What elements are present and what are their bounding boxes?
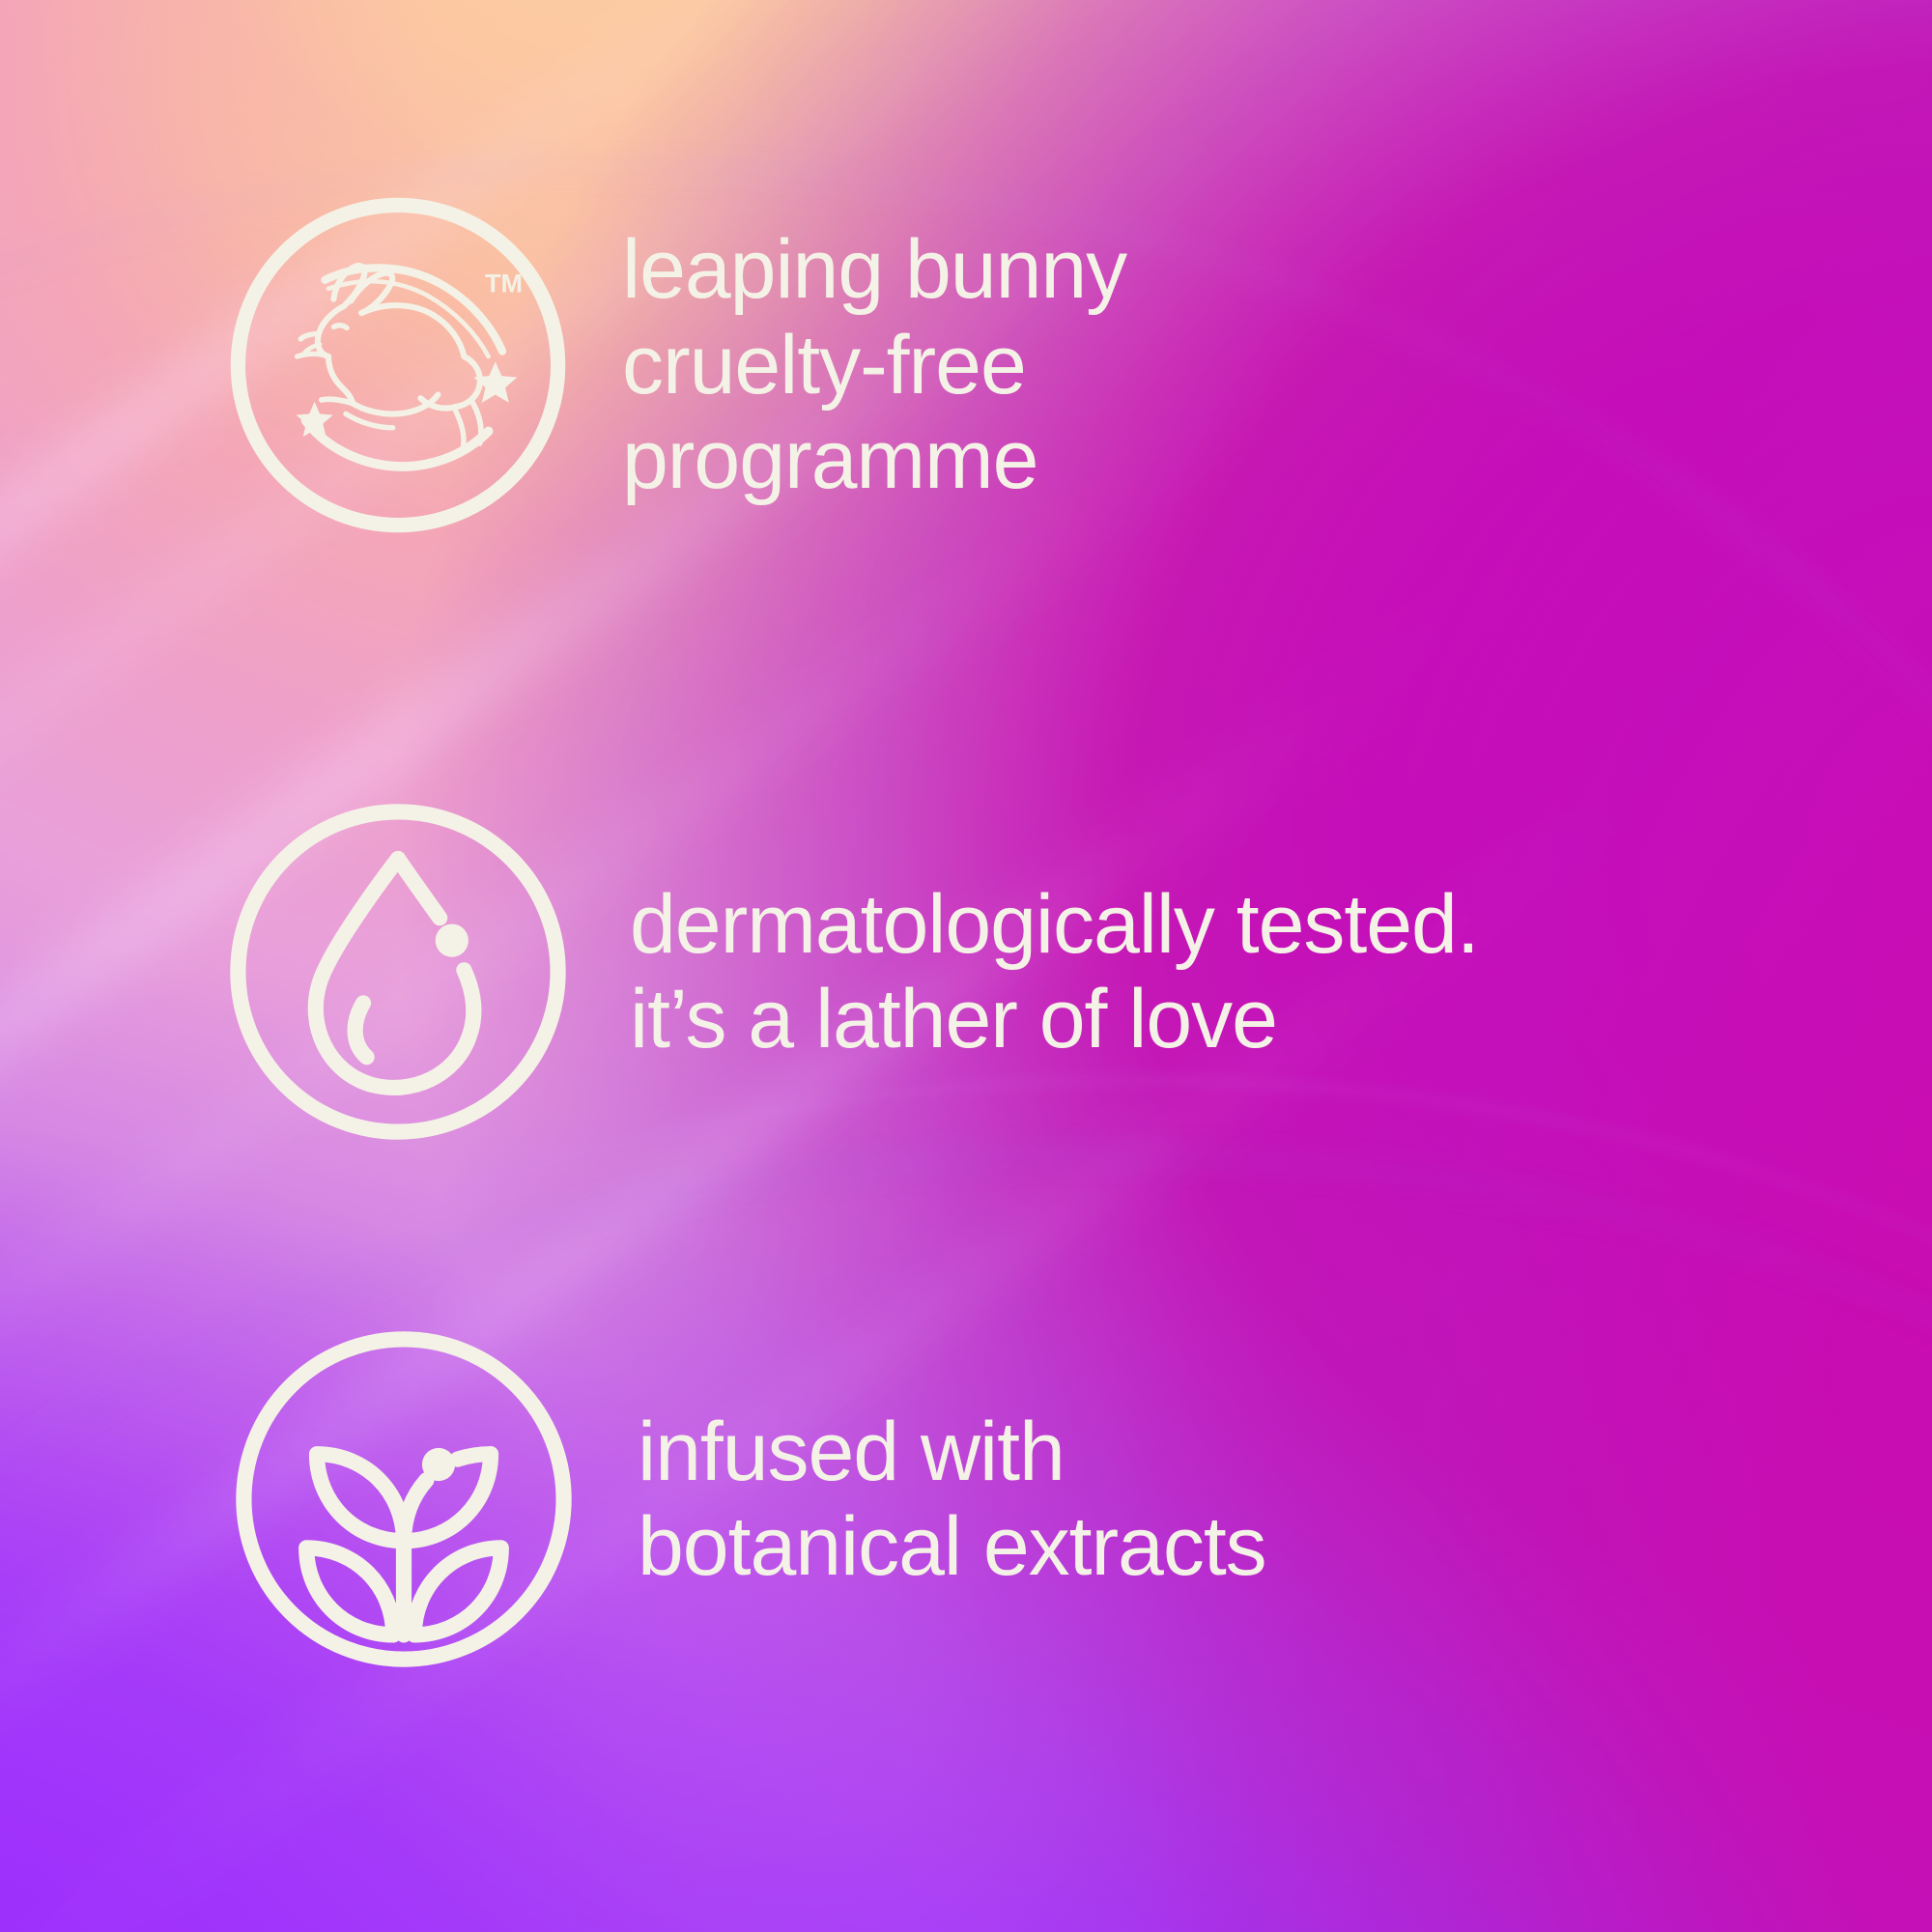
leaf-lower-left <box>306 1548 393 1634</box>
feature-text-leaping-bunny: leaping bunny cruelty-free programme <box>622 222 1126 507</box>
leaf-upper-left <box>317 1454 404 1541</box>
leaf-lower-right <box>414 1548 501 1634</box>
feature-text-dermatologically-tested: dermatologically tested. it’s a lather o… <box>630 877 1479 1067</box>
feature-row-leaping-bunny: TM leaping bunny cruelty-free programme <box>224 191 1126 539</box>
leaping-bunny-icon: TM <box>224 191 572 539</box>
water-drop-accent-dot <box>436 924 469 957</box>
feature-row-dermatologically-tested: dermatologically tested. it’s a lather o… <box>224 798 1479 1146</box>
feature-list: TM leaping bunny cruelty-free programme <box>0 0 1932 1932</box>
water-drop-icon <box>224 798 572 1146</box>
feature-text-botanical-extracts: infused with botanical extracts <box>638 1405 1266 1595</box>
botanical-accent-dot <box>422 1448 455 1481</box>
trademark-mark: TM <box>485 269 523 298</box>
product-claims-graphic: TM leaping bunny cruelty-free programme <box>0 0 1932 1932</box>
botanical-leaves-icon <box>230 1325 578 1673</box>
feature-row-botanical-extracts: infused with botanical extracts <box>230 1325 1266 1673</box>
